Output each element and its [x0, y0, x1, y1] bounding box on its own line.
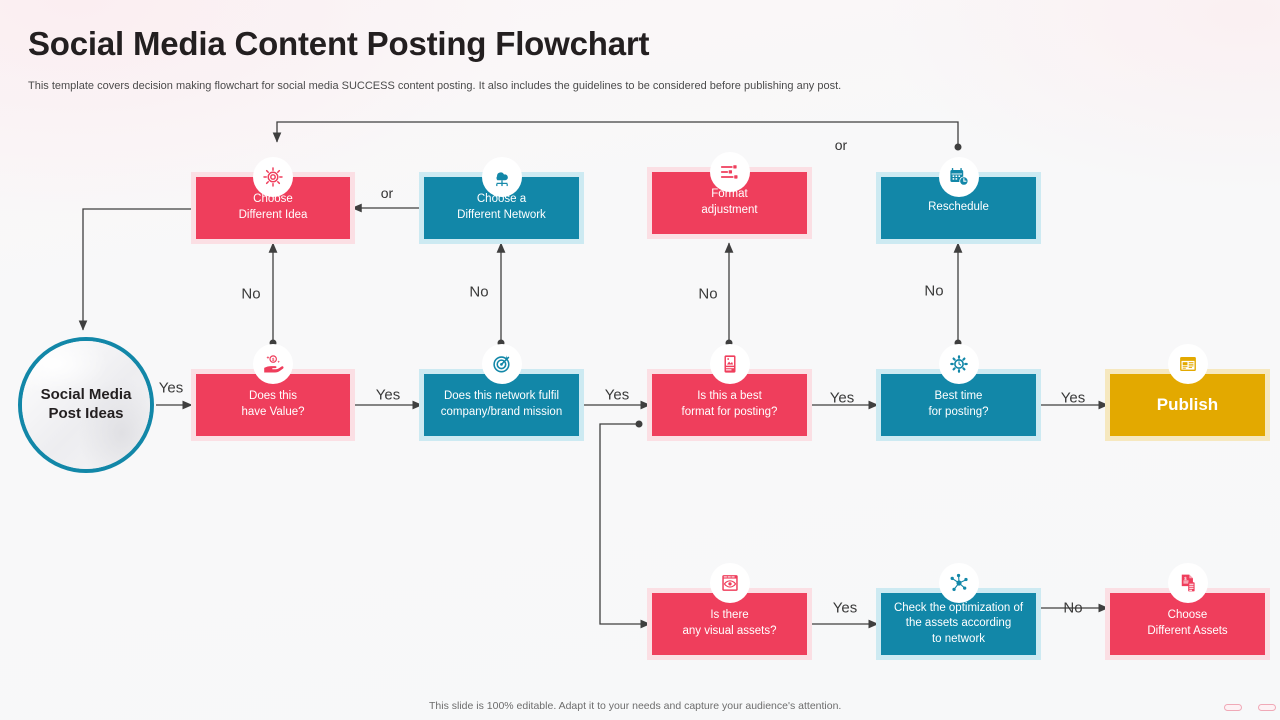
node-label-line2: company/brand mission	[441, 405, 562, 421]
node-label-line1: Is there	[683, 608, 777, 624]
node-does-this-have-value[interactable]: $ Does this have Value?	[196, 374, 350, 436]
node-label-line1: Does this	[241, 389, 304, 405]
node-label: Does this have Value?	[241, 389, 304, 420]
node-label: Publish	[1157, 394, 1218, 417]
edge-label-network-no: No	[469, 284, 488, 301]
edge-label-value-no: No	[241, 286, 260, 303]
edge-label-network-yes: Yes	[605, 387, 629, 404]
node-best-time-for-posting[interactable]: Best time for posting?	[881, 374, 1036, 436]
node-label-line2: format for posting?	[682, 405, 778, 421]
node-label-line1: Is this a best	[682, 389, 778, 405]
corner-mark-left	[1224, 704, 1242, 711]
node-label-line1: Best time	[928, 389, 988, 405]
node-label: Is there any visual assets?	[683, 608, 777, 639]
node-label-line1: Does this network fulfil	[441, 389, 562, 405]
node-label-line2: adjustment	[701, 203, 757, 219]
node-label: Is this a best format for posting?	[682, 389, 778, 420]
node-label-line2: Different Idea	[239, 208, 308, 224]
edge-label-format-no: No	[698, 286, 717, 303]
footer-note: This slide is 100% editable. Adapt it to…	[429, 700, 841, 712]
node-label-line1: Reschedule	[928, 200, 989, 216]
edge-label-value-yes: Yes	[376, 387, 400, 404]
calendar-clock-icon	[939, 157, 979, 197]
node-label-line2: have Value?	[241, 405, 304, 421]
node-choose-different-network[interactable]: Choose a Different Network	[424, 177, 579, 239]
edge-label-time-no: No	[924, 283, 943, 300]
start-node-line2: Post Ideas	[41, 405, 132, 424]
node-any-visual-assets[interactable]: Is there any visual assets?	[652, 593, 807, 655]
start-node-label: Social Media Post Ideas	[41, 386, 132, 424]
browser-window-icon	[1168, 344, 1208, 384]
network-nodes-icon	[939, 563, 979, 603]
node-label-line1: Check the optimization of	[894, 601, 1023, 617]
node-label: Check the optimization of the assets acc…	[894, 601, 1023, 648]
start-node-line1: Social Media	[41, 386, 132, 405]
node-label-line2: Different Network	[457, 208, 546, 224]
node-label: Reschedule	[928, 200, 989, 216]
document-format-icon	[710, 344, 750, 384]
sliders-icon	[710, 152, 750, 192]
svg-text:$: $	[272, 357, 275, 362]
cloud-network-icon	[482, 157, 522, 197]
flowchart-connectors	[0, 0, 1280, 720]
node-label: Does this network fulfil company/brand m…	[441, 389, 562, 420]
node-choose-different-assets[interactable]: $ Choose Different Assets	[1110, 593, 1265, 655]
node-label: Choose Different Idea	[239, 192, 308, 223]
node-network-fulfil-mission[interactable]: Does this network fulfil company/brand m…	[424, 374, 579, 436]
slide-canvas: Social Media Content Posting Flowchart T…	[0, 0, 1280, 720]
start-node-social-media-post-ideas[interactable]: Social Media Post Ideas	[18, 337, 154, 473]
node-label-line1: Choose	[1147, 608, 1227, 624]
node-label-line2: any visual assets?	[683, 624, 777, 640]
document-assets-icon: $	[1168, 563, 1208, 603]
node-label-line2: Different Assets	[1147, 624, 1227, 640]
node-label-line2: the assets according	[894, 616, 1023, 632]
gear-lightbulb-icon	[253, 157, 293, 197]
node-label: Format adjustment	[701, 187, 757, 218]
edge-label-or-left: or	[381, 185, 393, 201]
node-label-line1: Publish	[1157, 394, 1218, 417]
node-label-line2: for posting?	[928, 405, 988, 421]
node-label: Choose Different Assets	[1147, 608, 1227, 639]
edge-label-optimization-no: No	[1063, 600, 1082, 617]
target-icon	[482, 344, 522, 384]
node-label: Choose a Different Network	[457, 192, 546, 223]
node-format-adjustment[interactable]: Format adjustment	[652, 172, 807, 234]
gear-clock-icon	[939, 344, 979, 384]
edge-label-format-yes: Yes	[830, 390, 854, 407]
hand-money-icon: $	[253, 344, 293, 384]
node-check-optimization[interactable]: Check the optimization of the assets acc…	[881, 593, 1036, 655]
node-publish[interactable]: Publish	[1110, 374, 1265, 436]
corner-mark-right	[1258, 704, 1276, 711]
edge-label-start-yes: Yes	[159, 380, 183, 397]
node-best-format-for-posting[interactable]: Is this a best format for posting?	[652, 374, 807, 436]
edge-label-assets-yes: Yes	[833, 600, 857, 617]
node-choose-different-idea[interactable]: Choose Different Idea	[196, 177, 350, 239]
edge-label-time-yes: Yes	[1061, 390, 1085, 407]
edge-label-or-right: or	[835, 137, 847, 153]
node-label: Best time for posting?	[928, 389, 988, 420]
node-label-line3: to network	[894, 632, 1023, 648]
node-reschedule[interactable]: Reschedule	[881, 177, 1036, 239]
eye-preview-icon	[710, 563, 750, 603]
